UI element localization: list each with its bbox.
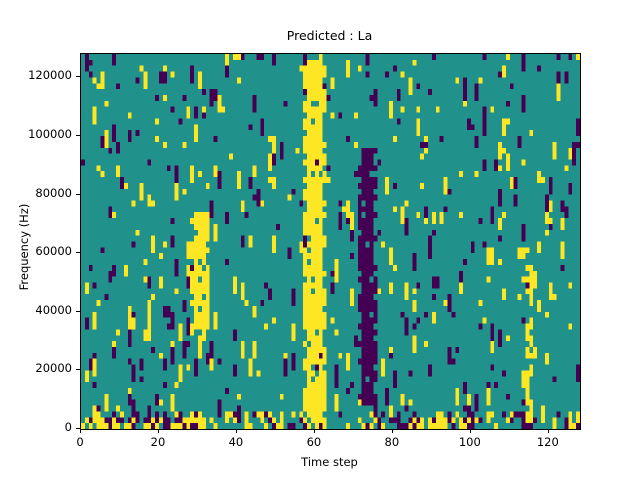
x-tick-mark: [392, 429, 393, 433]
y-tick-mark: [76, 76, 80, 77]
chart-title: Predicted : La: [80, 28, 579, 44]
y-axis-label: Frequency (Hz): [17, 147, 31, 347]
x-axis-label: Time step: [80, 455, 579, 469]
heatmap-image: [81, 54, 580, 429]
figure-canvas: Predicted : La 0204060801001200200004000…: [0, 0, 640, 480]
y-tick-mark: [76, 311, 80, 312]
y-tick-label: 60000: [2, 244, 72, 258]
y-tick-mark: [76, 135, 80, 136]
y-tick-mark: [76, 252, 80, 253]
y-tick-label: 80000: [2, 186, 72, 200]
x-tick-label: 120: [518, 435, 578, 449]
x-tick-mark: [80, 429, 81, 433]
y-tick-label: 0: [2, 420, 72, 434]
x-tick-mark: [470, 429, 471, 433]
y-tick-label: 40000: [2, 303, 72, 317]
x-tick-mark: [548, 429, 549, 433]
x-tick-label: 0: [50, 435, 110, 449]
x-tick-mark: [158, 429, 159, 433]
x-tick-mark: [314, 429, 315, 433]
x-tick-mark: [236, 429, 237, 433]
x-tick-label: 20: [128, 435, 188, 449]
x-tick-label: 100: [440, 435, 500, 449]
y-tick-label: 20000: [2, 361, 72, 375]
x-tick-label: 60: [284, 435, 344, 449]
y-tick-mark: [76, 369, 80, 370]
heatmap-plot-area[interactable]: [80, 53, 581, 430]
y-tick-mark: [76, 428, 80, 429]
x-tick-label: 80: [362, 435, 422, 449]
y-tick-label: 100000: [2, 127, 72, 141]
y-tick-label: 120000: [2, 68, 72, 82]
y-tick-mark: [76, 194, 80, 195]
x-tick-label: 40: [206, 435, 266, 449]
